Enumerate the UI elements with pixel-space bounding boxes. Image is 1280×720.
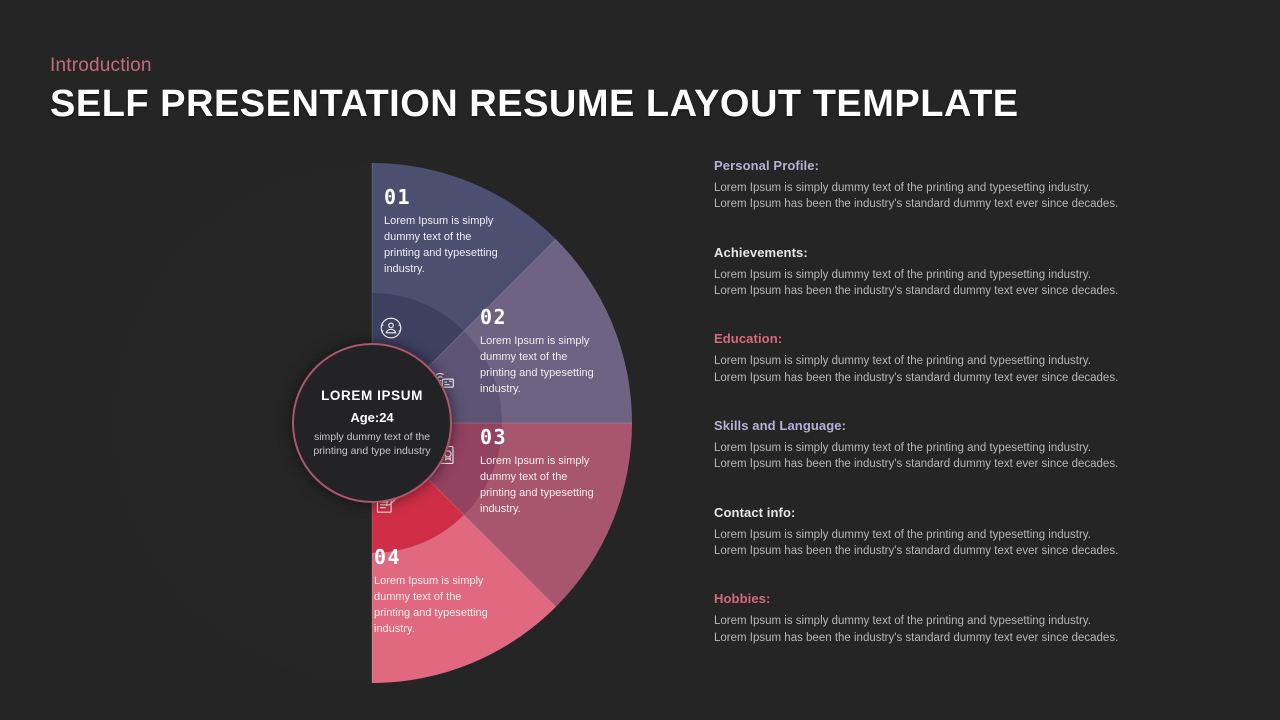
page-title: SELF PRESENTATION RESUME LAYOUT TEMPLATE <box>50 83 1019 126</box>
detail-body: Lorem Ipsum is simply dummy text of the … <box>714 613 1196 646</box>
segment-04-text: 04 Lorem Ipsum is simply dummy text of t… <box>374 545 490 637</box>
detail-line-2: Lorem Ipsum has been the industry's stan… <box>714 456 1196 472</box>
detail-body: Lorem Ipsum is simply dummy text of the … <box>714 180 1196 213</box>
slide-header: Introduction SELF PRESENTATION RESUME LA… <box>50 55 1019 126</box>
detail-heading: Achievements: <box>714 245 1196 260</box>
detail-line-1: Lorem Ipsum is simply dummy text of the … <box>714 527 1196 543</box>
detail-line-1: Lorem Ipsum is simply dummy text of the … <box>714 440 1196 456</box>
badge-person-icon <box>378 315 404 341</box>
detail-block-hobbies: Hobbies: Lorem Ipsum is simply dummy tex… <box>714 591 1196 646</box>
detail-line-1: Lorem Ipsum is simply dummy text of the … <box>714 353 1196 369</box>
segment-03-number: 03 <box>480 425 596 449</box>
detail-line-1: Lorem Ipsum is simply dummy text of the … <box>714 267 1196 283</box>
profile-age: Age:24 <box>350 410 393 425</box>
detail-line-2: Lorem Ipsum has been the industry's stan… <box>714 283 1196 299</box>
detail-block-achievements: Achievements: Lorem Ipsum is simply dumm… <box>714 245 1196 300</box>
segment-02-number: 02 <box>480 305 596 329</box>
slide-kicker: Introduction <box>50 55 1019 77</box>
detail-line-2: Lorem Ipsum has been the industry's stan… <box>714 630 1196 646</box>
detail-line-2: Lorem Ipsum has been the industry's stan… <box>714 196 1196 212</box>
detail-heading: Hobbies: <box>714 591 1196 606</box>
segment-01-body: Lorem Ipsum is simply dummy text of the … <box>384 213 500 277</box>
detail-block-personal-profile: Personal Profile: Lorem Ipsum is simply … <box>714 158 1196 213</box>
segment-01-number: 01 <box>384 185 500 209</box>
segment-04-body: Lorem Ipsum is simply dummy text of the … <box>374 573 490 637</box>
detail-heading: Education: <box>714 331 1196 346</box>
detail-body: Lorem Ipsum is simply dummy text of the … <box>714 267 1196 300</box>
details-column: Personal Profile: Lorem Ipsum is simply … <box>714 158 1196 646</box>
segment-03-text: 03 Lorem Ipsum is simply dummy text of t… <box>480 425 596 517</box>
segment-02-body: Lorem Ipsum is simply dummy text of the … <box>480 333 596 397</box>
resume-wheel-infographic: 01 Lorem Ipsum is simply dummy text of t… <box>112 163 632 683</box>
detail-line-1: Lorem Ipsum is simply dummy text of the … <box>714 180 1196 196</box>
profile-hub[interactable]: LOREM IPSUM Age:24 simply dummy text of … <box>292 343 452 503</box>
detail-heading: Contact info: <box>714 505 1196 520</box>
profile-description: simply dummy text of the printing and ty… <box>306 430 438 459</box>
detail-block-education: Education: Lorem Ipsum is simply dummy t… <box>714 331 1196 386</box>
detail-block-skills-and-language: Skills and Language: Lorem Ipsum is simp… <box>714 418 1196 473</box>
detail-line-2: Lorem Ipsum has been the industry's stan… <box>714 370 1196 386</box>
profile-name: LOREM IPSUM <box>321 388 423 403</box>
detail-body: Lorem Ipsum is simply dummy text of the … <box>714 353 1196 386</box>
detail-body: Lorem Ipsum is simply dummy text of the … <box>714 527 1196 560</box>
segment-01-text: 01 Lorem Ipsum is simply dummy text of t… <box>384 185 500 277</box>
detail-line-1: Lorem Ipsum is simply dummy text of the … <box>714 613 1196 629</box>
detail-block-contact-info: Contact info: Lorem Ipsum is simply dumm… <box>714 505 1196 560</box>
segment-02-text: 02 Lorem Ipsum is simply dummy text of t… <box>480 305 596 397</box>
segment-03-body: Lorem Ipsum is simply dummy text of the … <box>480 453 596 517</box>
detail-line-2: Lorem Ipsum has been the industry's stan… <box>714 543 1196 559</box>
segment-04-number: 04 <box>374 545 490 569</box>
detail-heading: Skills and Language: <box>714 418 1196 433</box>
detail-body: Lorem Ipsum is simply dummy text of the … <box>714 440 1196 473</box>
detail-heading: Personal Profile: <box>714 158 1196 173</box>
